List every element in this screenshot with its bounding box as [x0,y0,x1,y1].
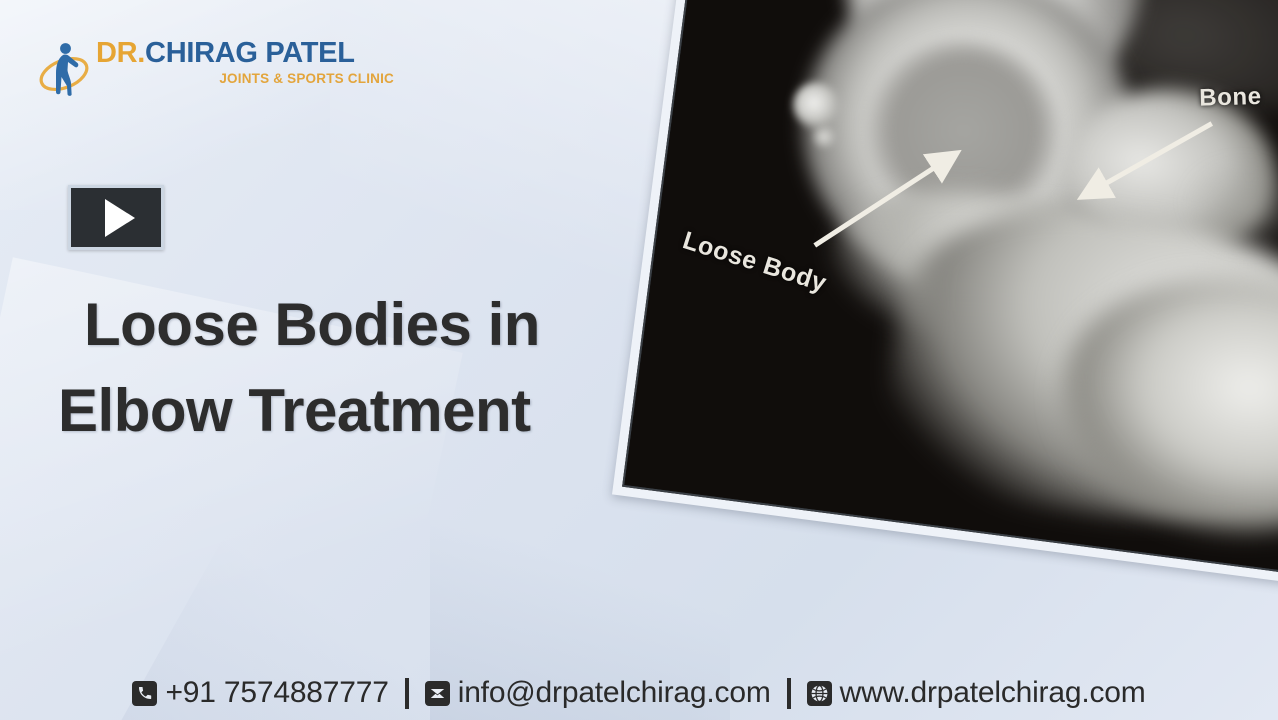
contact-email[interactable]: info@drpatelchirag.com [425,676,771,710]
xray-frame: Loose Body Bone [622,0,1278,574]
page-title-line-2: Elbow Treatment [58,368,638,454]
logo-prefix: DR. [96,37,145,69]
logo-name: CHIRAG PATEL [145,37,355,69]
contact-footer: +91 7574887777 info@drpatelchirag.com [0,676,1278,710]
xray-annotation-bone: Bone [1199,83,1262,113]
website-url: www.drpatelchirag.com [840,676,1146,710]
arrow-up-right-icon [805,125,971,278]
envelope-icon [425,681,450,706]
footer-separator [405,678,409,709]
phone-number: +91 7574887777 [165,676,388,710]
play-triangle-icon [105,199,135,237]
globe-icon [807,681,832,706]
running-figure-icon [38,40,94,98]
clinic-logo[interactable]: DR.CHIRAG PATEL JOINTS & SPORTS CLINIC [38,36,368,102]
page-title-line-1: Loose Bodies in [58,282,638,368]
elbow-radiograph-image: Loose Body Bone [624,0,1278,572]
video-play-button[interactable] [68,185,164,250]
logo-wordmark: DR.CHIRAG PATEL JOINTS & SPORTS CLINIC [96,36,396,88]
page-title: Loose Bodies in Elbow Treatment [58,282,638,454]
logo-tagline: JOINTS & SPORTS CLINIC [96,70,396,88]
email-address: info@drpatelchirag.com [458,676,771,710]
background-facet [0,0,330,210]
contact-phone[interactable]: +91 7574887777 [132,676,388,710]
phone-icon [132,681,157,706]
arrow-down-left-icon [1071,99,1225,231]
slide-canvas: DR.CHIRAG PATEL JOINTS & SPORTS CLINIC L… [0,0,1278,720]
xray-image-panel: Loose Body Bone [612,0,1278,585]
footer-separator [787,678,791,709]
contact-website[interactable]: www.drpatelchirag.com [807,676,1146,710]
